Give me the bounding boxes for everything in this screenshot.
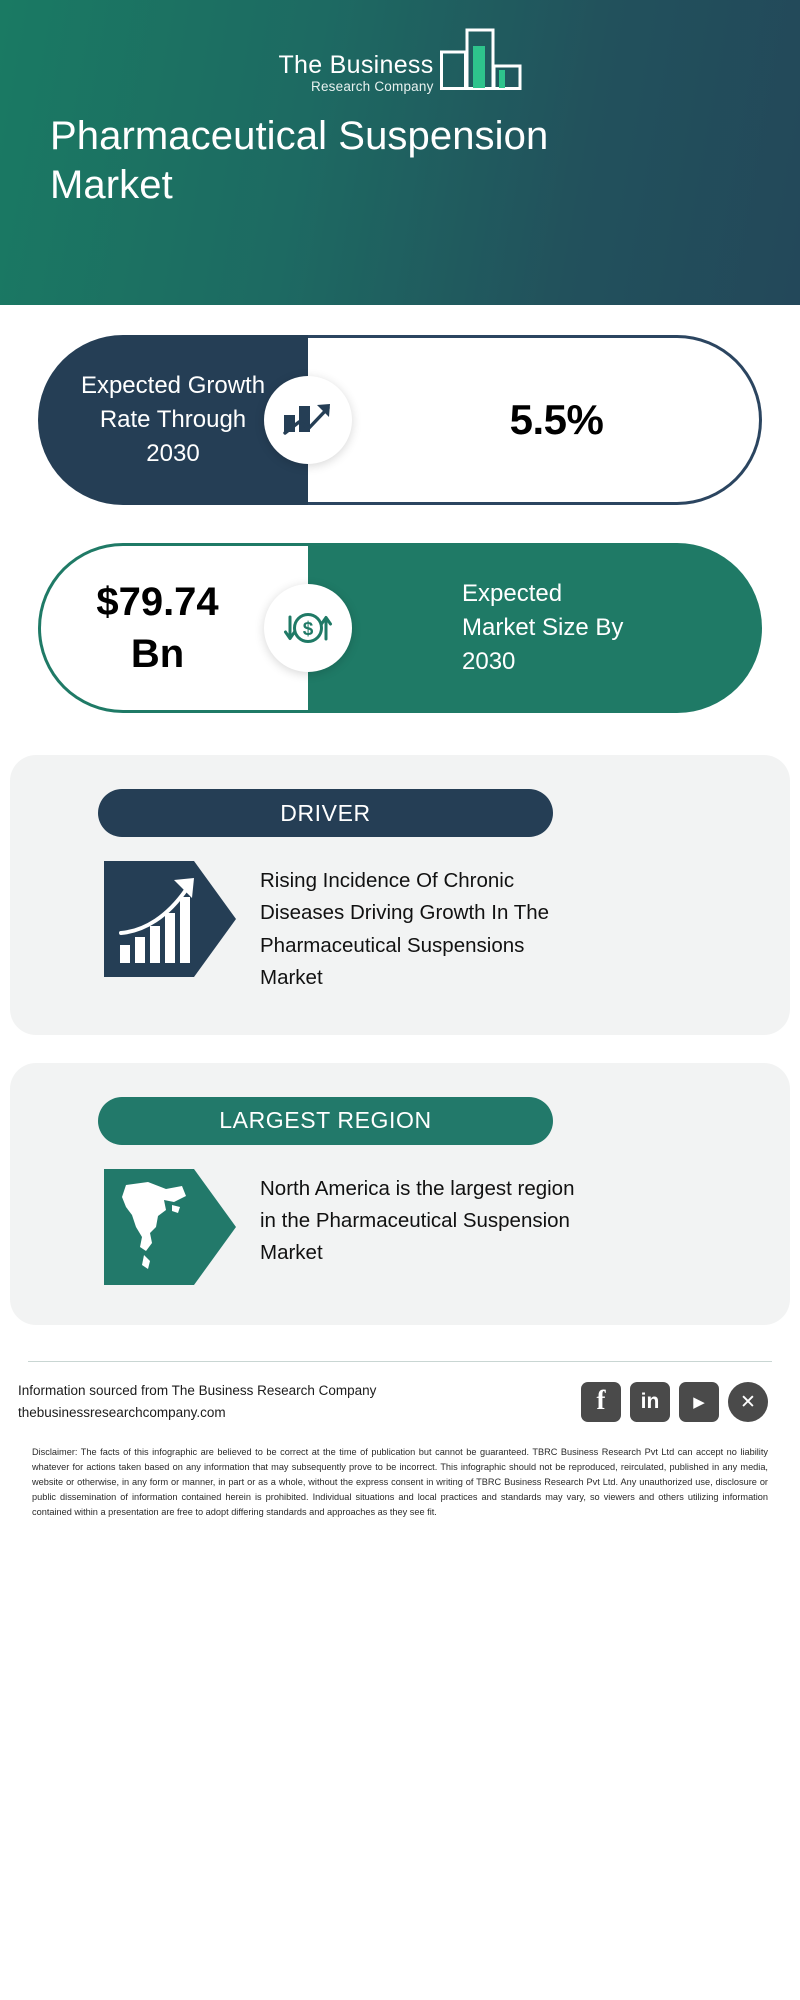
header-banner: The Business Research Company Pharmaceut…: [0, 0, 800, 305]
market-size-value-line-1: $79.74: [96, 580, 218, 624]
driver-panel: DRIVER Rising Incidence Of Chronic Disea…: [10, 755, 790, 1035]
largest-region-panel: LARGEST REGION North America is the larg…: [10, 1063, 790, 1325]
logo-line-1: The Business: [278, 53, 433, 78]
stat-cards-section: Expected Growth Rate Through 2030 5.5% $…: [0, 335, 800, 713]
market-size-value: $79.74 Bn: [96, 576, 252, 680]
growth-bar-chart-arrow-icon: [104, 861, 236, 977]
market-size-label: Expected Market Size By 2030: [440, 577, 630, 679]
facebook-icon[interactable]: f: [581, 1382, 621, 1422]
footer-top-row: Information sourced from The Business Re…: [18, 1380, 782, 1426]
svg-text:$: $: [303, 619, 314, 640]
footer-divider: [28, 1361, 772, 1362]
north-america-map-icon: [104, 1169, 236, 1285]
growth-chart-arrow-icon: [264, 376, 352, 464]
company-logo: The Business Research Company: [0, 22, 800, 97]
page-title: Pharmaceutical Suspension Market: [50, 112, 590, 210]
footer: Information sourced from The Business Re…: [0, 1361, 800, 1520]
logo-wordmark: The Business Research Company: [278, 53, 433, 98]
linkedin-icon[interactable]: in: [630, 1382, 670, 1422]
growth-rate-value-block: 5.5%: [308, 335, 762, 505]
dollar-circular-arrows-icon: $: [264, 584, 352, 672]
largest-region-badge: LARGEST REGION: [98, 1097, 553, 1145]
disclaimer-text: Disclaimer: The facts of this infographi…: [32, 1445, 768, 1520]
largest-region-body: North America is the largest region in t…: [40, 1169, 760, 1285]
youtube-glyph: ▶: [693, 1393, 705, 1412]
largest-region-text: North America is the largest region in t…: [260, 1169, 590, 1270]
infographic-page: The Business Research Company Pharmaceut…: [0, 0, 800, 2000]
x-glyph: ✕: [740, 1391, 756, 1414]
social-links: f in ▶ ✕: [581, 1382, 782, 1422]
linkedin-glyph: in: [641, 1390, 660, 1414]
logo-line-2: Research Company: [278, 80, 433, 94]
stat-card-growth-rate: Expected Growth Rate Through 2030 5.5%: [38, 335, 762, 505]
growth-rate-label: Expected Growth Rate Through 2030: [73, 369, 273, 471]
youtube-icon[interactable]: ▶: [679, 1382, 719, 1422]
source-line-2[interactable]: thebusinessresearchcompany.com: [18, 1402, 376, 1425]
driver-text: Rising Incidence Of Chronic Diseases Dri…: [260, 861, 590, 995]
market-size-value-line-2: Bn: [131, 632, 184, 676]
source-attribution: Information sourced from The Business Re…: [18, 1380, 376, 1426]
facebook-glyph: f: [597, 1387, 606, 1414]
market-size-label-block: Expected Market Size By 2030: [308, 543, 762, 713]
driver-body: Rising Incidence Of Chronic Diseases Dri…: [40, 861, 760, 995]
source-line-1: Information sourced from The Business Re…: [18, 1380, 376, 1403]
x-twitter-icon[interactable]: ✕: [728, 1382, 768, 1422]
bar-chart-logo-icon: [440, 22, 522, 95]
growth-rate-value: 5.5%: [464, 396, 604, 444]
driver-badge: DRIVER: [98, 789, 553, 837]
stat-card-market-size: $79.74 Bn Expected Market Size By 2030 $: [38, 543, 762, 713]
